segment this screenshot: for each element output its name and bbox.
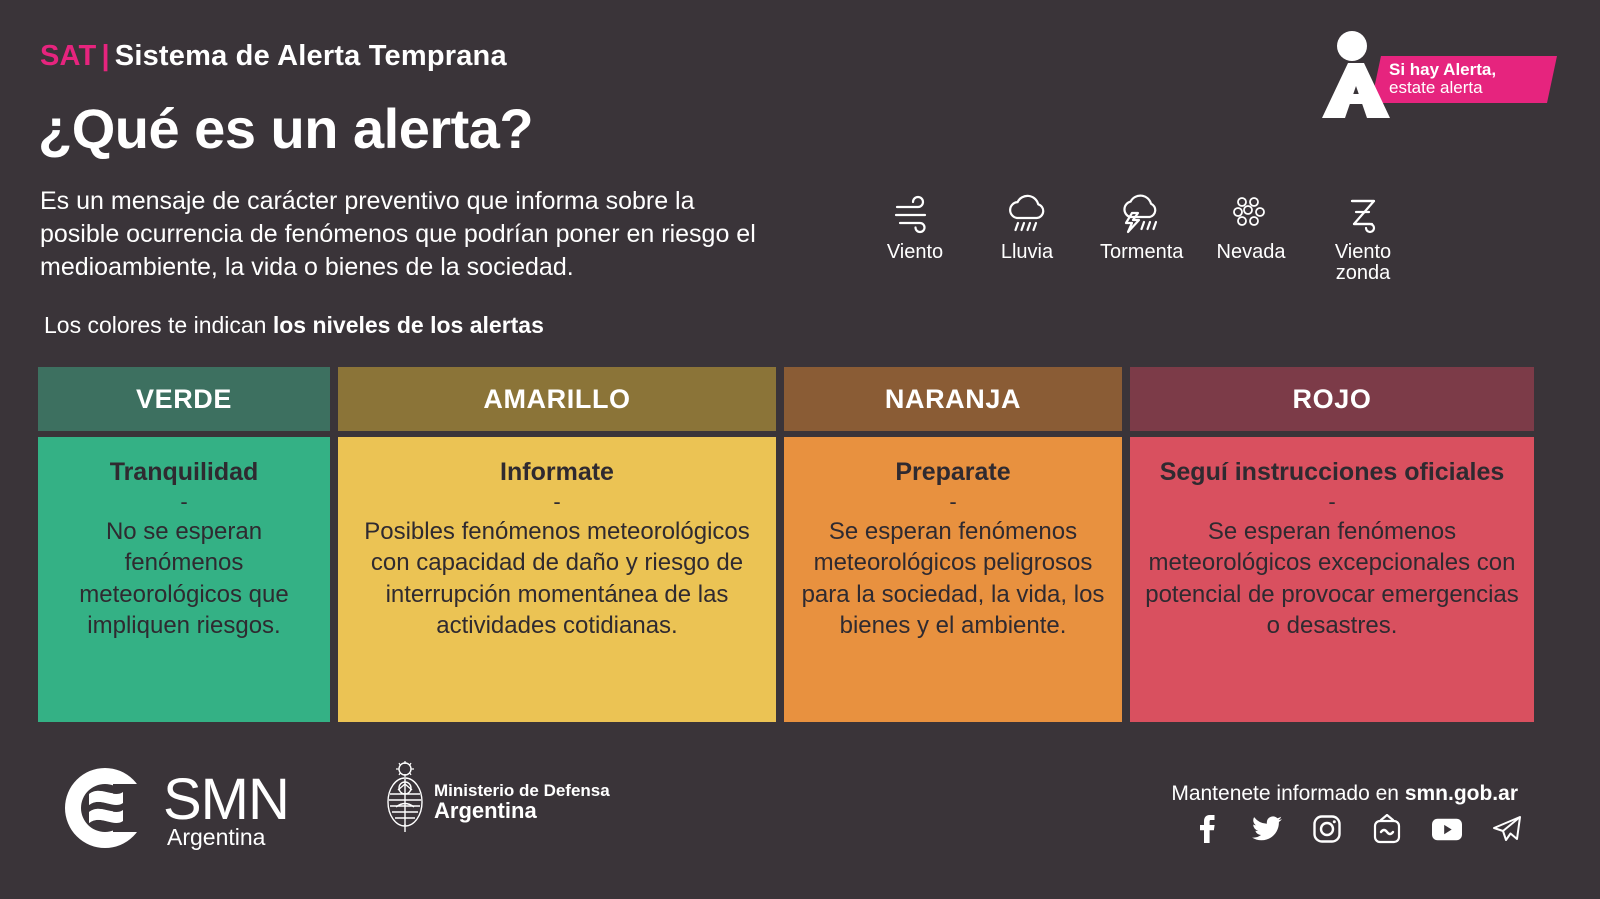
alert-level-description: Se esperan fenómenos meteorológicos exce… <box>1144 516 1520 641</box>
alert-level-action: Informate <box>352 459 762 487</box>
alert-level-body: Tranquilidad - No se esperan fenómenos m… <box>38 437 330 722</box>
alert-level-description: Se esperan fenómenos meteorológicos peli… <box>798 516 1108 641</box>
telegram-icon[interactable] <box>1492 814 1522 844</box>
page-title: ¿Qué es un alerta? <box>38 96 533 161</box>
phenomenon-label: Lluvia <box>988 242 1066 263</box>
alert-level-dash: - <box>52 487 316 517</box>
alert-level-header: ROJO <box>1130 367 1534 431</box>
alert-level-body: Informate - Posibles fenómenos meteoroló… <box>338 437 776 722</box>
alert-levels-table: VERDE Tranquilidad - No se esperan fenóm… <box>38 367 1534 722</box>
smn-wordmark: SMN <box>163 766 289 833</box>
alert-level-rojo: ROJO Seguí instrucciones oficiales - Se … <box>1130 367 1534 722</box>
brand-line: SAT|Sistema de Alerta Temprana <box>40 40 507 73</box>
colors-note: Los colores te indican los niveles de lo… <box>44 312 544 339</box>
phenomenon-viento: Viento <box>876 190 954 263</box>
alert-level-action: Seguí instrucciones oficiales <box>1144 459 1520 487</box>
alert-campaign-logo: Si hay Alerta, estate alerta <box>1304 30 1580 120</box>
smn-country-label: Argentina <box>167 824 265 851</box>
igtv-icon[interactable] <box>1372 814 1402 844</box>
alert-level-naranja: NARANJA Preparate - Se esperan fenómenos… <box>784 367 1122 722</box>
argentina-coat-of-arms-icon <box>382 760 428 838</box>
facebook-icon[interactable] <box>1192 814 1222 844</box>
lead-paragraph: Es un mensaje de carácter preventivo que… <box>40 185 780 283</box>
instagram-icon[interactable] <box>1312 814 1342 844</box>
rain-cloud-icon <box>988 190 1066 238</box>
alert-banner-line1: Si hay Alerta, <box>1389 61 1549 79</box>
stay-informed-plain: Mantenete informado en <box>1171 782 1404 805</box>
alert-level-action: Preparate <box>798 459 1108 487</box>
alert-level-action: Tranquilidad <box>52 459 316 487</box>
stay-informed-text: Mantenete informado en smn.gob.ar <box>1171 782 1518 806</box>
alert-level-dash: - <box>1144 487 1520 517</box>
brand-full-name: Sistema de Alerta Temprana <box>115 40 507 72</box>
alert-banner-text: Si hay Alerta, estate alerta <box>1389 61 1549 98</box>
wind-icon <box>876 190 954 238</box>
alert-level-dash: - <box>352 487 762 517</box>
infographic-root: SAT|Sistema de Alerta Temprana ¿Qué es u… <box>0 0 1600 899</box>
phenomenon-label: Viento zonda <box>1324 242 1402 283</box>
twitter-icon[interactable] <box>1252 814 1282 844</box>
phenomenon-label: Nevada <box>1212 242 1290 263</box>
alert-level-amarillo: AMARILLO Informate - Posibles fenómenos … <box>338 367 776 722</box>
alert-level-header: AMARILLO <box>338 367 776 431</box>
smn-logo: SMN Argentina <box>55 762 155 859</box>
thunderstorm-icon <box>1100 190 1178 238</box>
colors-note-bold: los niveles de los alertas <box>273 312 544 338</box>
phenomena-row: Viento Lluvia <box>876 190 1402 283</box>
alert-level-verde: VERDE Tranquilidad - No se esperan fenóm… <box>38 367 330 722</box>
zonda-wind-z-icon <box>1324 190 1402 238</box>
smn-circle-waves-logo <box>55 762 155 854</box>
phenomenon-nevada: Nevada <box>1212 190 1290 263</box>
phenomenon-viento-zonda: Viento zonda <box>1324 190 1402 283</box>
ministry-of-defense-logo: Ministerio de Defensa Argentina <box>382 760 428 843</box>
alert-level-header: VERDE <box>38 367 330 431</box>
alert-level-description: Posibles fenómenos meteorológicos con ca… <box>352 516 762 641</box>
website-url[interactable]: smn.gob.ar <box>1405 782 1518 805</box>
brand-separator: | <box>101 40 109 72</box>
phenomenon-label: Viento <box>876 242 954 263</box>
alert-level-description: No se esperan fenómenos meteorológicos q… <box>52 516 316 641</box>
phenomenon-tormenta: Tormenta <box>1100 190 1178 263</box>
snowflakes-icon <box>1212 190 1290 238</box>
ministry-line2: Argentina <box>434 798 537 824</box>
alert-level-body: Seguí instrucciones oficiales - Se esper… <box>1130 437 1534 722</box>
phenomenon-label: Tormenta <box>1100 242 1178 263</box>
alert-level-header: NARANJA <box>784 367 1122 431</box>
social-links <box>1192 814 1522 844</box>
alert-banner-line2: estate alerta <box>1389 79 1549 97</box>
alert-level-body: Preparate - Se esperan fenómenos meteoro… <box>784 437 1122 722</box>
colors-note-plain: Los colores te indican <box>44 312 273 338</box>
brand-abbreviation: SAT <box>40 40 96 72</box>
alert-level-dash: - <box>798 487 1108 517</box>
youtube-icon[interactable] <box>1432 814 1462 844</box>
phenomenon-lluvia: Lluvia <box>988 190 1066 263</box>
